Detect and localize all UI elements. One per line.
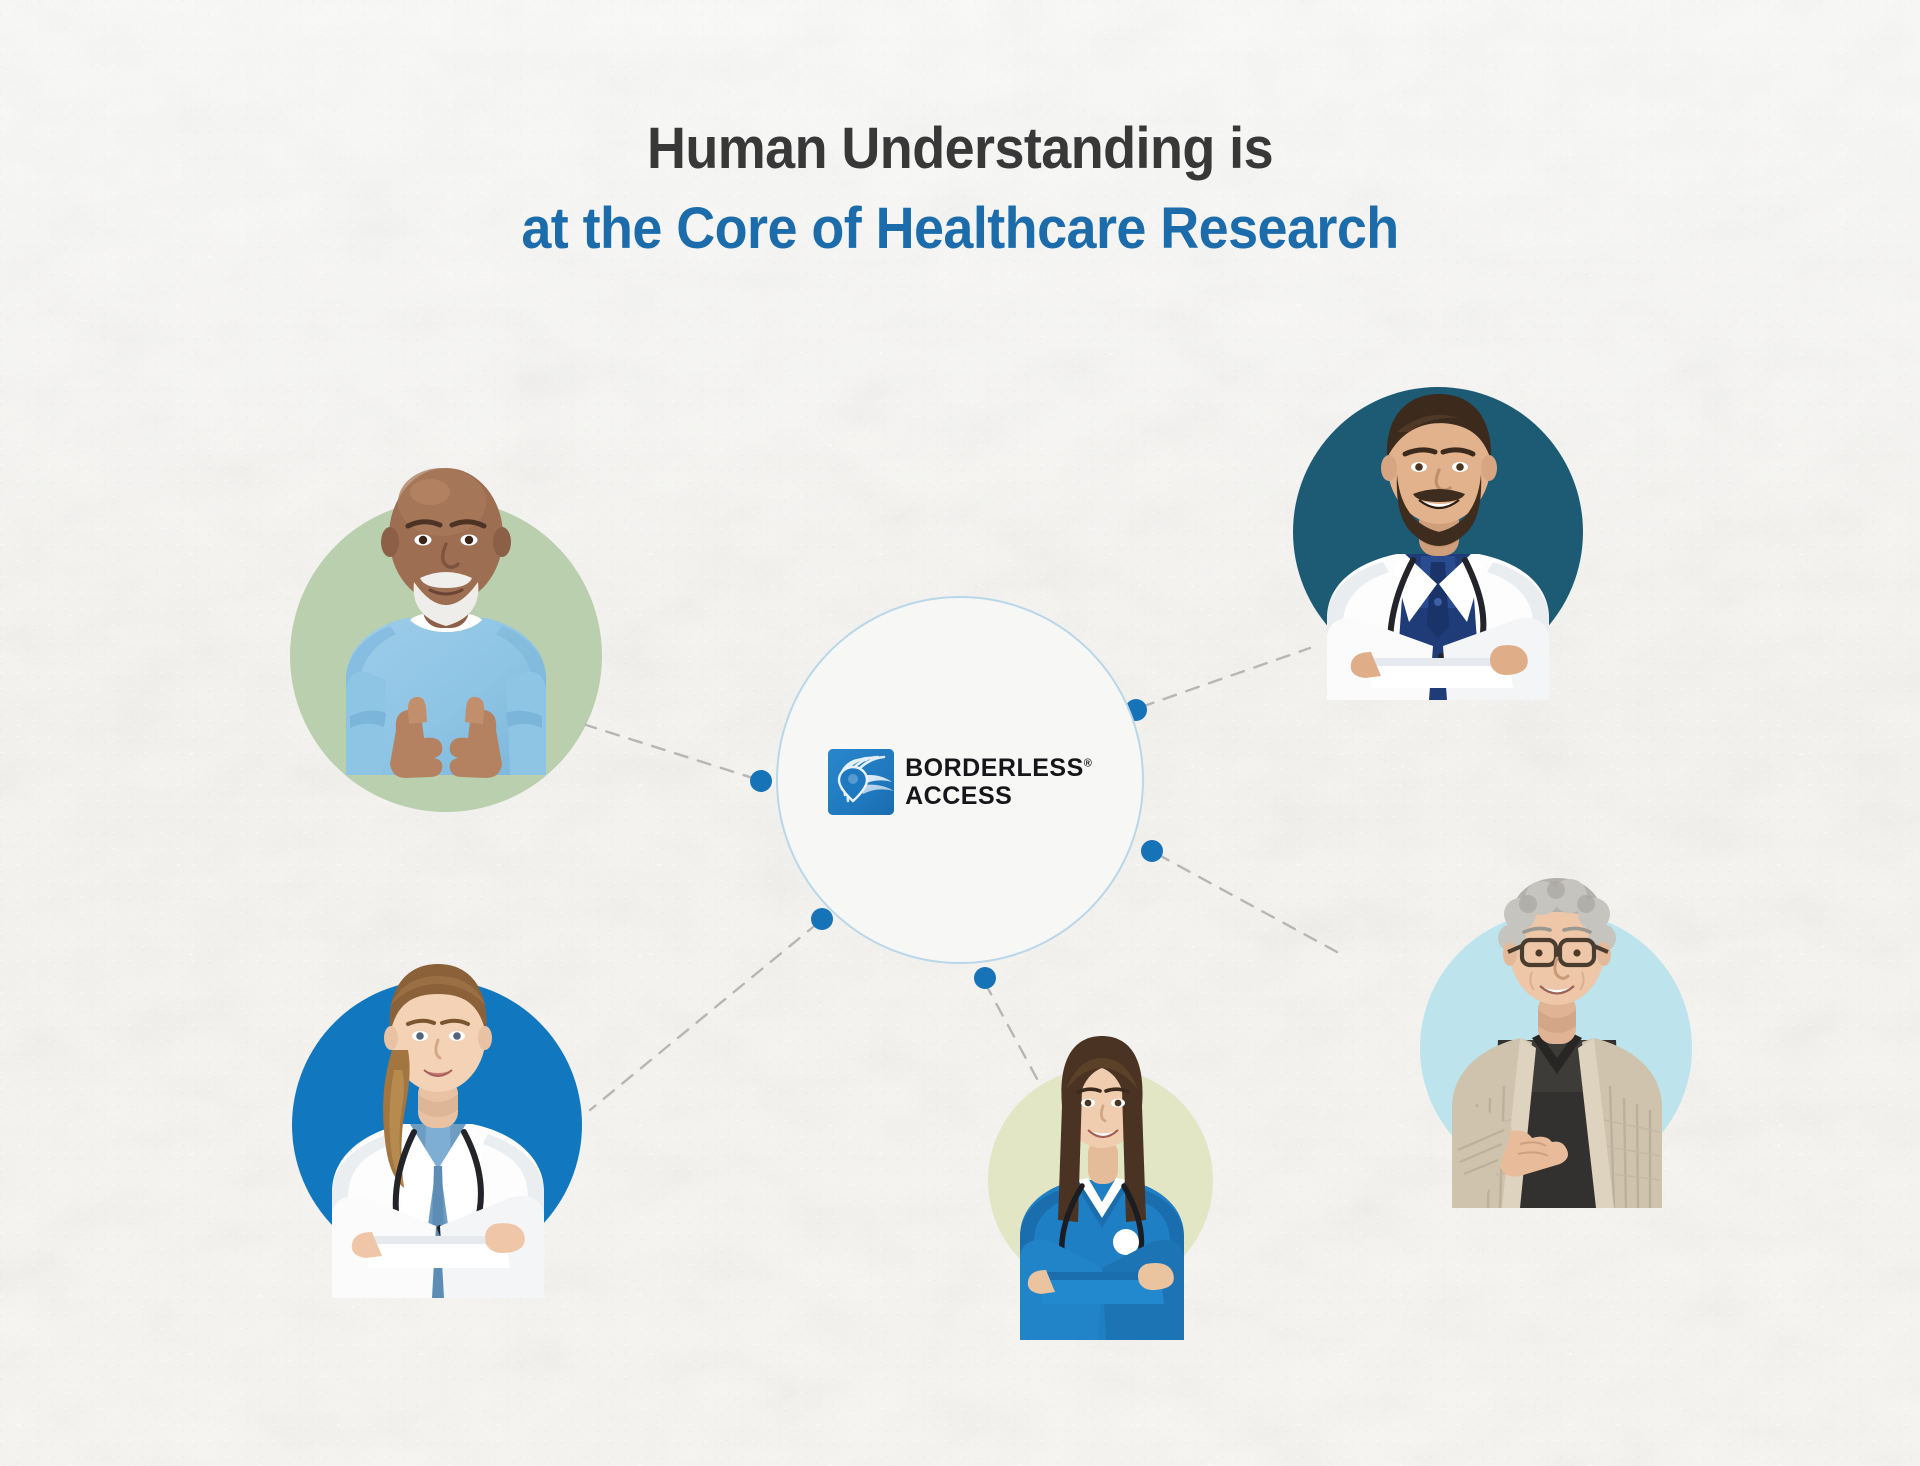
node-doctor-female[interactable]	[292, 940, 592, 1300]
headline-line-1: Human Understanding is	[67, 116, 1853, 182]
node-doctor-male[interactable]	[1293, 370, 1593, 715]
photo-doctor-female	[314, 940, 562, 1298]
wordmark-text-borderless: BORDERLESS	[905, 754, 1084, 782]
wordmark-line-borderless: BORDERLESS®	[905, 756, 1092, 781]
photo-patient-senior-woman	[1428, 860, 1686, 1208]
borderless-access-wave-pin-mark-icon	[828, 749, 894, 815]
photo-patient-senior-man	[310, 430, 585, 775]
node-patient-senior-woman[interactable]	[1420, 860, 1710, 1210]
wordmark-line-access: ACCESS	[905, 784, 1092, 809]
node-patient-senior-man[interactable]	[282, 430, 612, 775]
headline-line-2: at the Core of Healthcare Research	[67, 196, 1853, 262]
center-hub-circle[interactable]: BORDERLESS® ACCESS	[776, 596, 1144, 964]
borderless-access-wordmark: BORDERLESS® ACCESS	[905, 756, 1092, 809]
page-headline: Human Understanding is at the Core of He…	[0, 116, 1920, 262]
registered-trademark-symbol: ®	[1084, 757, 1092, 769]
node-nurse-female[interactable]	[988, 1020, 1228, 1345]
photo-nurse-female	[1006, 1020, 1198, 1340]
photo-doctor-male	[1313, 370, 1563, 700]
borderless-access-logo: BORDERLESS® ACCESS	[828, 749, 1092, 815]
